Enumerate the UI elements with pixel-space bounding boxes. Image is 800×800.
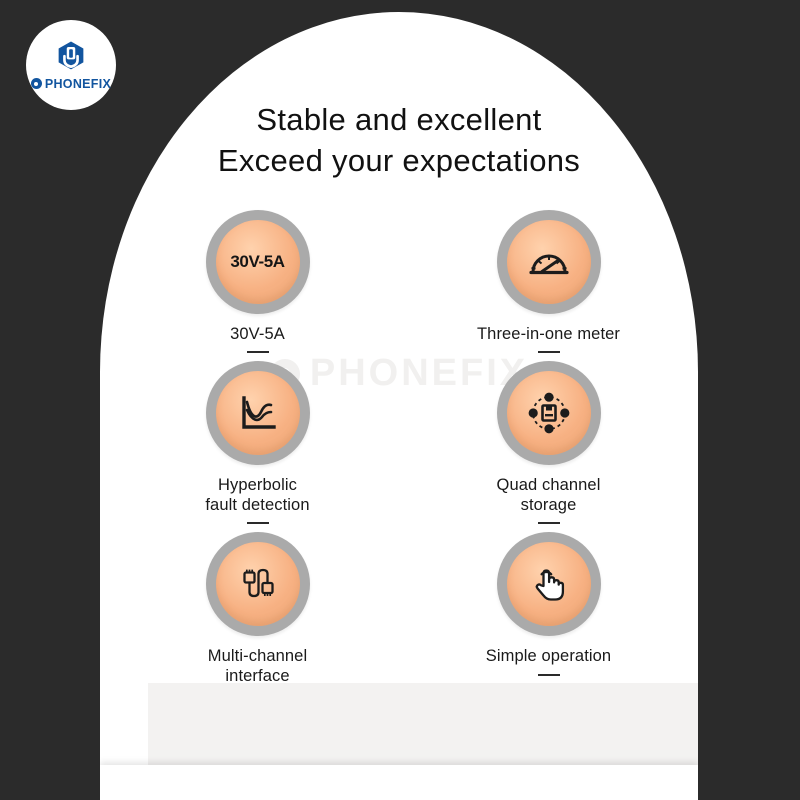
feature-item-voltage: 30V-5A 30V-5A xyxy=(100,210,399,353)
voltage-current-label-icon: 30V-5A xyxy=(216,220,300,304)
feature-caption: Quad channel storage xyxy=(497,476,601,515)
feature-badge: 30V-5A xyxy=(206,210,310,314)
quad-channel-storage-icon xyxy=(507,371,591,455)
feature-caption: Multi-channel interface xyxy=(208,647,307,686)
page-title: Stable and excellent Exceed your expecta… xyxy=(100,100,698,182)
promo-banner: PHONEFIX Stable and excellent Exceed you… xyxy=(0,0,800,800)
bottom-strip xyxy=(100,765,698,800)
feature-grid: 30V-5A 30V-5A xyxy=(100,210,698,695)
caption-underline xyxy=(538,351,560,353)
badge-text: 30V-5A xyxy=(230,252,284,272)
feature-caption: Three-in-one meter xyxy=(477,325,620,344)
heading-line-2: Exceed your expectations xyxy=(100,141,698,182)
feature-item-fault-detection: Hyperbolic fault detection xyxy=(100,361,399,524)
caption-underline xyxy=(247,522,269,524)
feature-item-storage: Quad channel storage xyxy=(399,361,698,524)
feature-badge xyxy=(497,361,601,465)
usb-cable-icon xyxy=(216,542,300,626)
caption-underline xyxy=(538,674,560,676)
arch-panel: PHONEFIX Stable and excellent Exceed you… xyxy=(100,12,698,800)
caption-underline xyxy=(538,522,560,524)
feature-item-meter: Three-in-one meter xyxy=(399,210,698,353)
heading-line-1: Stable and excellent xyxy=(100,100,698,141)
curve-chart-icon xyxy=(216,371,300,455)
brand-logo[interactable]: PHONEFIX xyxy=(26,20,116,110)
feature-caption: Simple operation xyxy=(486,647,611,666)
tap-hand-icon xyxy=(507,542,591,626)
feature-item-operation: Simple operation xyxy=(399,532,698,695)
feature-badge xyxy=(206,532,310,636)
caption-underline xyxy=(247,351,269,353)
phonefix-hexagon-logo-icon xyxy=(54,40,88,74)
bottom-band xyxy=(148,683,698,765)
feature-badge xyxy=(497,210,601,314)
gear-icon xyxy=(31,78,42,89)
feature-item-interface: Multi-channel interface xyxy=(100,532,399,695)
feature-badge xyxy=(206,361,310,465)
feature-caption: 30V-5A xyxy=(230,325,285,344)
gauge-meter-icon xyxy=(507,220,591,304)
feature-caption: Hyperbolic fault detection xyxy=(205,476,309,515)
feature-badge xyxy=(497,532,601,636)
brand-wordmark: PHONEFIX xyxy=(31,77,111,91)
brand-name: PHONEFIX xyxy=(45,77,111,91)
